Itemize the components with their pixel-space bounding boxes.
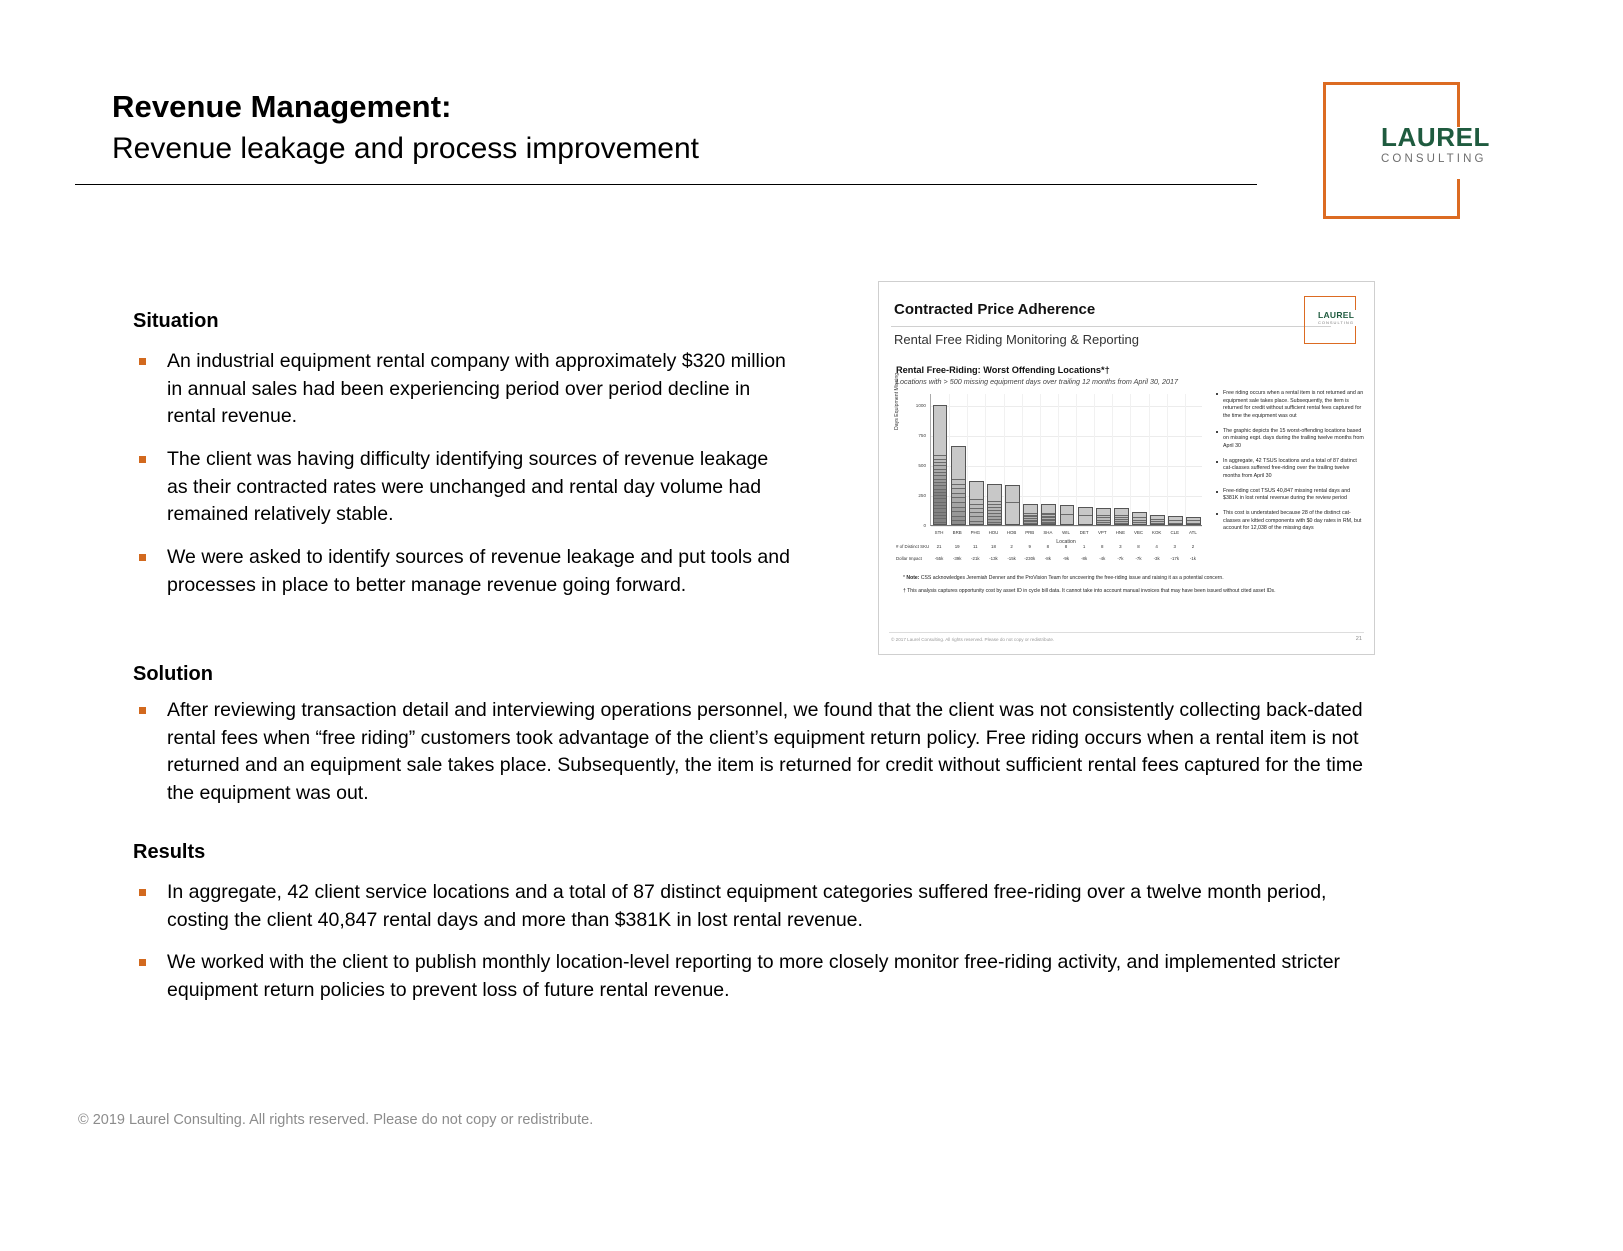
thumbnail-subtitle: Rental Free Riding Monitoring & Reportin… [894,332,1139,347]
gridline-vertical [1185,394,1186,525]
thumbnail-logo-wordmark: LAUREL CONSULTING [1316,310,1356,326]
y-tick-label: 250 [904,493,926,498]
x-tick-label: HOU [984,530,1002,535]
x-tick-label: PHG [966,530,984,535]
thumbnail-callout-list: Free riding occurs when a rental item is… [1215,390,1365,540]
gridline-vertical [1094,394,1095,525]
bar-segment [934,406,947,456]
bar-segment [1115,509,1128,516]
bar-VPT [1096,508,1111,525]
x-tick-label: HOB [1003,530,1021,535]
bar-HOU [987,484,1002,525]
list-item: After reviewing transaction detail and i… [133,697,1393,808]
data-cell: -3k [1148,556,1166,561]
bar-VBC [1132,512,1147,525]
bar-segment [952,447,965,480]
footnote-label: Note: [906,575,919,581]
list-item: The graphic depicts the 15 worst-offendi… [1215,428,1365,451]
thumbnail-logo-tagline: CONSULTING [1318,321,1354,325]
chart-footnote: † This analysis captures opportunity cos… [903,588,1353,595]
data-cell: -7k [1129,556,1147,561]
results-bullet-list: In aggregate, 42 client service location… [133,879,1393,1020]
bar-segment [1061,506,1074,514]
bar-segment [1187,524,1200,525]
data-cell: -230k [1021,556,1039,561]
gridline-horizontal [931,466,1202,467]
bar-segment [970,482,983,501]
logo-tagline: CONSULTING [1381,154,1541,166]
logo-wordmark: LAUREL CONSULTING [1381,124,1541,166]
data-cell: -15k [1003,556,1021,561]
bar-segment [1042,524,1055,525]
data-cell: 8 [1057,544,1075,549]
bar-ATL [1186,517,1201,525]
slide-header: Revenue Management: Revenue leakage and … [0,0,1623,210]
x-tick-label: SHA [1039,530,1057,535]
section-heading-solution: Solution [133,663,213,686]
data-cell: 1 [1075,544,1093,549]
embedded-slide-thumbnail: Contracted Price Adherence Rental Free R… [878,281,1375,655]
gridline-vertical [1167,394,1168,525]
chart-data-row-dollar: Dollar Impact-55k-39k-21k-13k-15k-230k-8… [896,556,1206,565]
chart-plot-wrapper: Days Equipment Missing 02505007501000 ST… [896,390,1206,555]
data-cell: 4 [1148,544,1166,549]
data-cell: -9k [1057,556,1075,561]
bar-segment [1061,515,1074,525]
bar-segment [1097,523,1110,525]
gridline-horizontal [931,436,1202,437]
thumbnail-page-number: 21 [1356,636,1362,642]
data-cell: 8 [1039,544,1057,549]
chart-plot-area [930,394,1202,526]
chart-data-row-sku: # of Distinct SKU2119111829881838432 [896,544,1206,553]
bar-segment [1151,524,1164,525]
x-tick-label: VBC [1129,530,1147,535]
gridline-vertical [1149,394,1150,525]
list-item: Free riding occurs when a rental item is… [1215,390,1365,421]
gridline-horizontal [931,526,1202,527]
title-subtitle: Revenue leakage and process improvement [112,130,1112,168]
list-item: In aggregate, 42 TSUS locations and a to… [1215,458,1365,481]
data-cell: 9 [1021,544,1039,549]
gridline-horizontal [931,406,1202,407]
bar-STH [933,405,948,525]
bar-segment [1006,486,1019,503]
bar-CLE [1168,516,1183,525]
footer-copyright: © 2019 Laurel Consulting. All rights res… [78,1112,593,1128]
x-tick-label: VPT [1093,530,1111,535]
bar-BRB [951,446,966,525]
bar-segment [1042,505,1055,514]
bar-HNE [1114,508,1129,525]
y-tick-label: 750 [904,433,926,438]
list-item: We worked with the client to publish mon… [133,949,1393,1004]
bar-segment [934,523,947,525]
data-cell: -8k [1075,556,1093,561]
bar-KOK [1150,515,1165,525]
x-tick-label: DET [1075,530,1093,535]
chart-y-axis-label: Days Equipment Missing [894,340,900,430]
y-tick-label: 0 [904,523,926,528]
data-cell: 3 [1166,544,1184,549]
bar-segment [1133,523,1146,525]
data-cell: -17k [1166,556,1184,561]
data-cell: -21k [966,556,984,561]
data-cell: 3 [1111,544,1129,549]
x-tick-label: WIL [1057,530,1075,535]
bar-DET [1078,507,1093,525]
data-cell: 8 [1093,544,1111,549]
section-heading-situation: Situation [133,310,219,333]
situation-bullet-list: An industrial equipment rental company w… [133,348,793,615]
gridline-vertical [1076,394,1077,525]
section-heading-results: Results [133,841,205,864]
data-cell: -39k [948,556,966,561]
data-cell: -1k [1184,556,1202,561]
page-title: Revenue Management: Revenue leakage and … [112,88,1112,167]
list-item: We were asked to identify sources of rev… [133,544,793,599]
bar-segment [1024,524,1037,525]
chart-footnote: * Note: CSS acknowledges Jeremiah Denner… [903,575,1353,582]
list-item: In aggregate, 42 client service location… [133,879,1393,934]
data-cell: -8k [1039,556,1057,561]
bar-HOB [1005,485,1020,525]
chart-title: Rental Free-Riding: Worst Offending Loca… [896,365,1110,375]
header-divider [75,184,1257,185]
thumbnail-logo-name: LAUREL [1318,311,1354,320]
bar-segment [988,523,1001,525]
list-item: This cost is understated because 28 of t… [1215,510,1365,533]
data-cell: -13k [984,556,1002,561]
bar-segment [952,521,965,525]
list-item: Free-riding cost TSUS 40,847 missing ren… [1215,488,1365,503]
list-item: An industrial equipment rental company w… [133,348,793,431]
gridline-vertical [1112,394,1113,525]
data-cell: 18 [984,544,1002,549]
data-cell: 2 [1003,544,1021,549]
x-tick-label: CLE [1166,530,1184,535]
bar-PHG [969,481,984,525]
data-cell: -4k [1093,556,1111,561]
bar-WIL [1060,505,1075,525]
logo-name: LAUREL [1381,124,1541,150]
bar-segment [970,522,983,525]
thumbnail-footer-copyright: © 2017 Laurel Consulting. All rights res… [891,637,1054,642]
data-cell: 19 [948,544,966,549]
gridline-vertical [1130,394,1131,525]
data-cell: 2 [1184,544,1202,549]
list-item: The client was having difficulty identif… [133,446,793,529]
x-tick-label: STH [930,530,948,535]
bar-segment [1115,524,1128,525]
y-tick-label: 1000 [904,403,926,408]
bar-PRB [1023,504,1038,525]
bar-segment [1079,508,1092,516]
title-main: Revenue Management: [112,88,1112,126]
solution-bullet-list: After reviewing transaction detail and i… [133,697,1393,823]
x-tick-label: KOK [1148,530,1166,535]
bar-segment [988,485,1001,502]
thumbnail-logo: LAUREL CONSULTING [1304,296,1360,344]
x-tick-label: HNE [1111,530,1129,535]
laurel-consulting-logo: LAUREL CONSULTING [1323,82,1460,219]
bar-segment [1097,509,1110,516]
chart-subtitle: Locations with > 500 missing equipment d… [896,377,1178,386]
x-tick-label: BRB [948,530,966,535]
x-tick-label: ATL [1184,530,1202,535]
bar-segment [1169,524,1182,526]
x-tick-label: PRB [1021,530,1039,535]
data-cell: -55k [930,556,948,561]
thumbnail-footer-divider [889,632,1364,633]
data-cell: -7k [1111,556,1129,561]
thumbnail-title: Contracted Price Adherence [894,301,1095,318]
y-tick-label: 500 [904,463,926,468]
bar-SHA [1041,504,1056,525]
data-cell: 21 [930,544,948,549]
bar-segment [1024,505,1037,514]
data-cell: 11 [966,544,984,549]
data-cell: 8 [1129,544,1147,549]
thumbnail-divider [891,326,1331,327]
